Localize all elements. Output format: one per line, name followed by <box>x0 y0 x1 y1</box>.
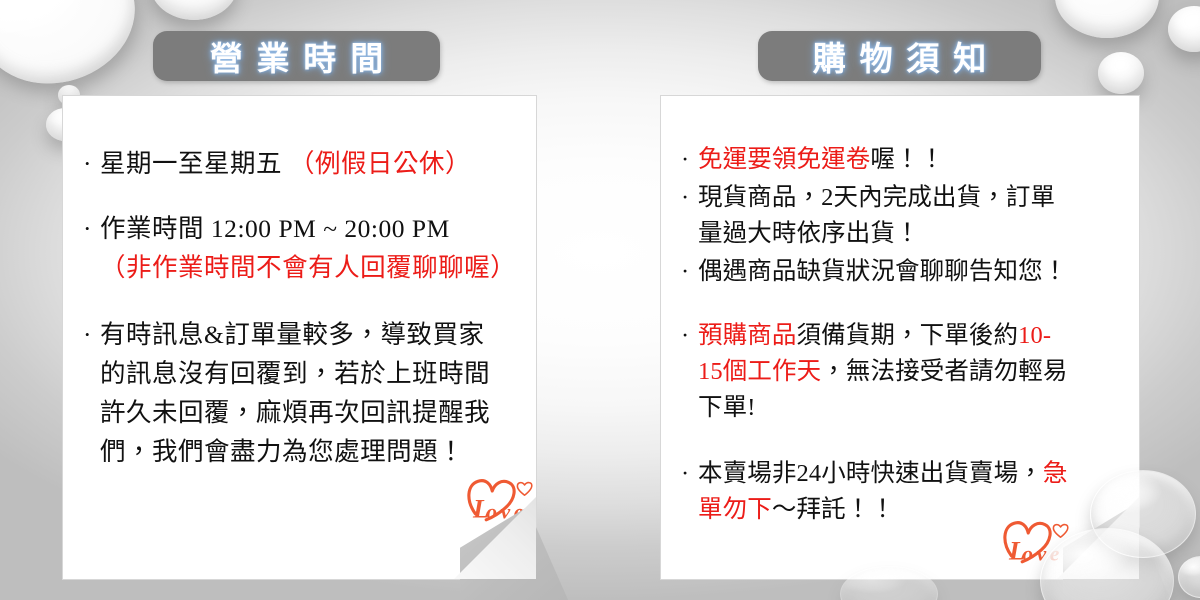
text-block: ·有時訊息&訂單量較多，導致買家的訊息沒有回覆到，若於上班時間許久未回覆，麻煩再… <box>83 315 518 471</box>
bullet-icon: · <box>83 144 100 183</box>
bullet-icon: · <box>681 456 698 492</box>
bubble-bottom-right-c-icon <box>1178 556 1200 598</box>
svg-text:e: e <box>1050 542 1060 566</box>
bullet-icon: · <box>83 315 100 354</box>
page-fold-shadow <box>460 507 580 600</box>
text-line: 們，我們會盡力為您處理問題！ <box>83 432 518 471</box>
text-run: 們，我們會盡力為您處理問題！ <box>100 437 464 466</box>
text-line: （非作業時間不會有人回覆聊聊喔） <box>83 248 518 287</box>
text-line: 的訊息沒有回覆到，若於上班時間 <box>83 354 518 393</box>
text-run: 下單! <box>698 394 756 421</box>
text-block: ·現貨商品，2天內完成出貨，訂單量過大時依序出貨！ <box>681 180 1121 252</box>
bubble-top-right-a-icon <box>1055 0 1159 38</box>
text-line: 量過大時依序出貨！ <box>681 216 1121 252</box>
text-line: 15個工作天，無法接受者請勿輕易 <box>681 354 1121 390</box>
text-line: 下單! <box>681 390 1121 426</box>
text-block: ·作業時間 12:00 PM ~ 20:00 PM（非作業時間不會有人回覆聊聊喔… <box>83 209 518 287</box>
bubble-top-right-b-icon <box>1098 52 1144 94</box>
text-block: ·預購商品須備貨期，下單後約10-15個工作天，無法接受者請勿輕易下單! <box>681 318 1121 426</box>
svg-text:o: o <box>1022 542 1033 566</box>
text-run: 星期一至星期五 <box>100 149 289 178</box>
love-logo-icon: L o v e <box>455 467 551 527</box>
bullet-icon: · <box>681 318 698 354</box>
bubble-top-left-large-icon <box>0 0 152 103</box>
text-line: ·有時訊息&訂單量較多，導致買家 <box>83 315 518 354</box>
text-run: 須備貨期，下單後約 <box>797 322 1019 349</box>
business-hours-content: ·星期一至星期五 （例假日公休） ·作業時間 12:00 PM ~ 20:00 … <box>63 96 536 579</box>
svg-text:e: e <box>514 500 524 524</box>
bullet-icon: · <box>83 209 100 248</box>
text-run: 有時訊息&訂單量較多，導致買家 <box>100 320 485 349</box>
text-run: 的訊息沒有回覆到，若於上班時間 <box>100 359 490 388</box>
slide-canvas: 營業時間 購物須知 ·星期一至星期五 （例假日公休） ·作業時間 12:00 P… <box>0 0 1200 600</box>
text-run: ，無法接受者請勿輕易 <box>821 358 1067 385</box>
bullet-icon: · <box>681 254 698 290</box>
text-block: ·本賣場非24小時快速出貨賣場，急單勿下～拜託！！ <box>681 456 1121 528</box>
shopping-notice-content: ·免運要領免運卷喔！！ ·現貨商品，2天內完成出貨，訂單量過大時依序出貨！ ·偶… <box>661 96 1139 579</box>
text-run: 偶遇商品缺貨狀況會聊聊告知您！ <box>698 258 1067 285</box>
section-header-business-hours: 營業時間 <box>153 31 440 81</box>
text-block: ·偶遇商品缺貨狀況會聊聊告知您！ <box>681 254 1121 290</box>
text-run: 許久未回覆，麻煩再次回訊提醒我 <box>100 398 490 427</box>
text-run-accent: 預購商品 <box>698 322 797 349</box>
text-run-accent: （例假日公休） <box>289 149 471 178</box>
text-line: 許久未回覆，麻煩再次回訊提醒我 <box>83 393 518 432</box>
bullet-icon: · <box>681 142 698 178</box>
shopping-notice-panel: ·免運要領免運卷喔！！ ·現貨商品，2天內完成出貨，訂單量過大時依序出貨！ ·偶… <box>660 95 1140 580</box>
text-run-accent: 急 <box>1043 460 1068 487</box>
text-run: 本賣場非24小時快速出貨賣場， <box>698 460 1043 487</box>
bullet-icon: · <box>681 180 698 216</box>
text-run: 現貨商品，2天內完成出貨，訂單 <box>698 184 1055 211</box>
page-fold-corner <box>454 497 536 579</box>
text-line: ·星期一至星期五 （例假日公休） <box>83 144 518 183</box>
text-line: ·預購商品須備貨期，下單後約10- <box>681 318 1121 354</box>
text-run: 喔！！ <box>870 146 944 173</box>
svg-text:o: o <box>486 500 497 524</box>
text-run-accent: 15個工作天 <box>698 358 821 385</box>
text-line: ·免運要領免運卷喔！！ <box>681 142 1121 178</box>
text-run: ～拜託！！ <box>772 496 895 523</box>
text-line: 單勿下～拜託！！ <box>681 492 1121 528</box>
text-run-accent: 10- <box>1018 322 1051 349</box>
svg-text:L: L <box>472 493 489 523</box>
text-run-accent: （非作業時間不會有人回覆聊聊喔） <box>100 253 516 282</box>
text-run-accent: 單勿下 <box>698 496 772 523</box>
bubble-top-middle-icon <box>150 0 238 20</box>
section-header-business-hours-label: 營業時間 <box>196 32 397 80</box>
text-line: ·本賣場非24小時快速出貨賣場，急 <box>681 456 1121 492</box>
svg-text:v: v <box>501 500 511 524</box>
text-run: 量過大時依序出貨！ <box>698 220 920 247</box>
text-line: ·作業時間 12:00 PM ~ 20:00 PM <box>83 209 518 248</box>
text-block: ·免運要領免運卷喔！！ <box>681 142 1121 178</box>
section-header-shopping-notice: 購物須知 <box>758 31 1041 81</box>
business-hours-panel: ·星期一至星期五 （例假日公休） ·作業時間 12:00 PM ~ 20:00 … <box>62 95 537 580</box>
text-block: ·星期一至星期五 （例假日公休） <box>83 144 518 183</box>
text-line: ·現貨商品，2天內完成出貨，訂單 <box>681 180 1121 216</box>
svg-text:v: v <box>1037 542 1047 566</box>
text-run: 作業時間 12:00 PM ~ 20:00 PM <box>100 214 450 243</box>
bubble-top-right-c-icon <box>1168 6 1200 52</box>
section-header-shopping-notice-label: 購物須知 <box>799 32 1000 80</box>
text-run-accent: 免運要領免運卷 <box>698 146 870 173</box>
svg-text:L: L <box>1008 535 1025 565</box>
text-line: ·偶遇商品缺貨狀況會聊聊告知您！ <box>681 254 1121 290</box>
